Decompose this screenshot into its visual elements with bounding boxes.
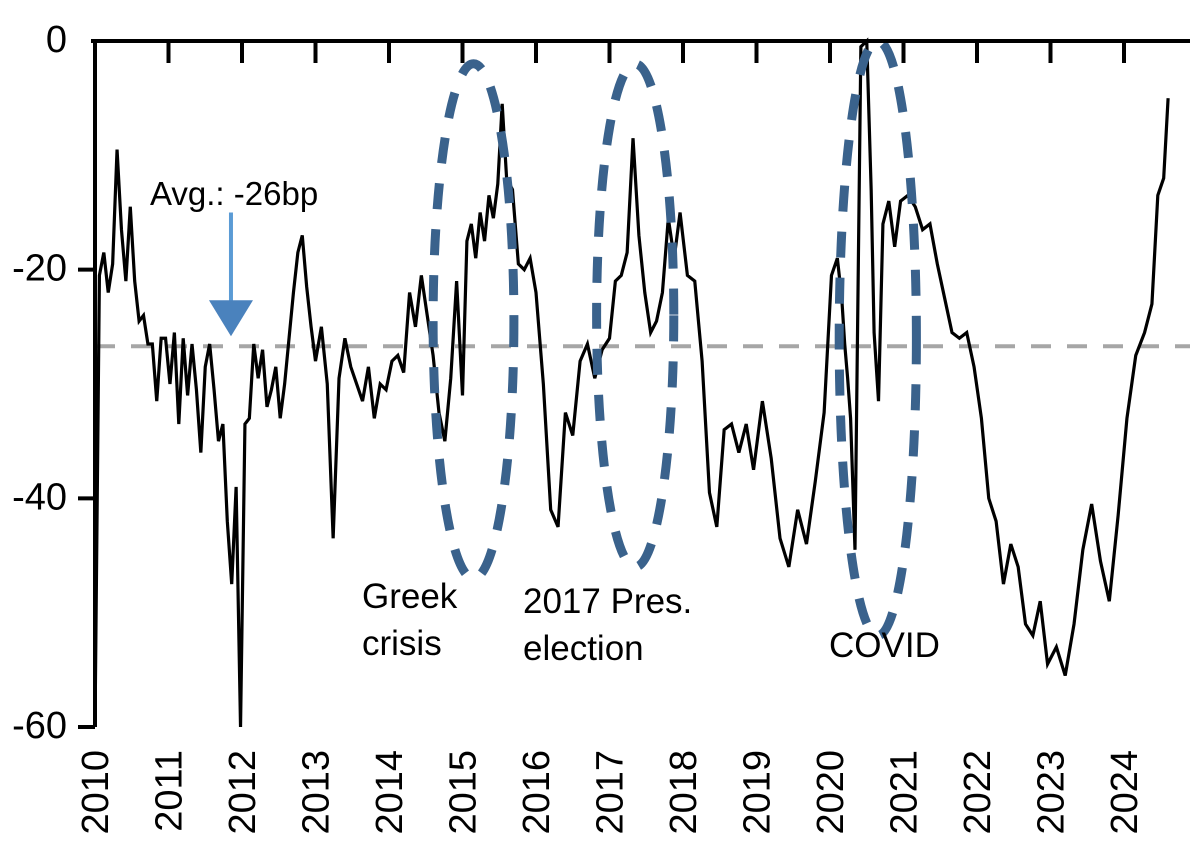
x-axis-tick-label: 2024 (1104, 750, 1146, 835)
y-axis-tick-label: -20 (12, 248, 67, 290)
y-axis-tick-label: 0 (46, 19, 67, 61)
x-axis-tick-label: 2017 (590, 750, 632, 835)
x-axis-tick-label: 2023 (1031, 750, 1073, 835)
x-axis-tick-label: 2015 (443, 750, 485, 835)
average-annotation-label: Avg.: -26bp (150, 175, 318, 212)
x-axis-tick-label: 2022 (957, 750, 999, 835)
x-axis-tick-label: 2011 (149, 750, 191, 832)
chart-container: 0-20-40-60 20102011201220132014201520162… (0, 0, 1200, 852)
covid-label: COVID (829, 626, 940, 665)
x-axis-tick-label: 2021 (884, 750, 926, 835)
greek-crisis-label-line2: crisis (362, 624, 442, 663)
chart-background (0, 0, 1200, 852)
x-axis-tick-label: 2014 (369, 750, 411, 835)
x-axis-tick-label: 2020 (810, 750, 852, 835)
x-axis-tick-label: 2018 (663, 750, 705, 835)
x-axis-tick-label: 2016 (516, 750, 558, 835)
x-axis-tick-label: 2010 (75, 750, 117, 835)
x-axis-tick-label: 2012 (222, 750, 264, 835)
greek-crisis-label-line1: Greek (362, 577, 458, 616)
x-axis-tick-label: 2019 (737, 750, 779, 835)
x-axis-tick-labels: 2010201120122013201420152016201720182019… (75, 750, 1146, 835)
election-label-line1: 2017 Pres. (523, 582, 692, 621)
election-label-line2: election (523, 629, 644, 668)
y-axis-tick-label: -40 (12, 476, 67, 518)
line-chart: 0-20-40-60 20102011201220132014201520162… (0, 0, 1200, 852)
y-axis-tick-label: -60 (12, 705, 67, 747)
x-axis-tick-label: 2013 (296, 750, 338, 835)
